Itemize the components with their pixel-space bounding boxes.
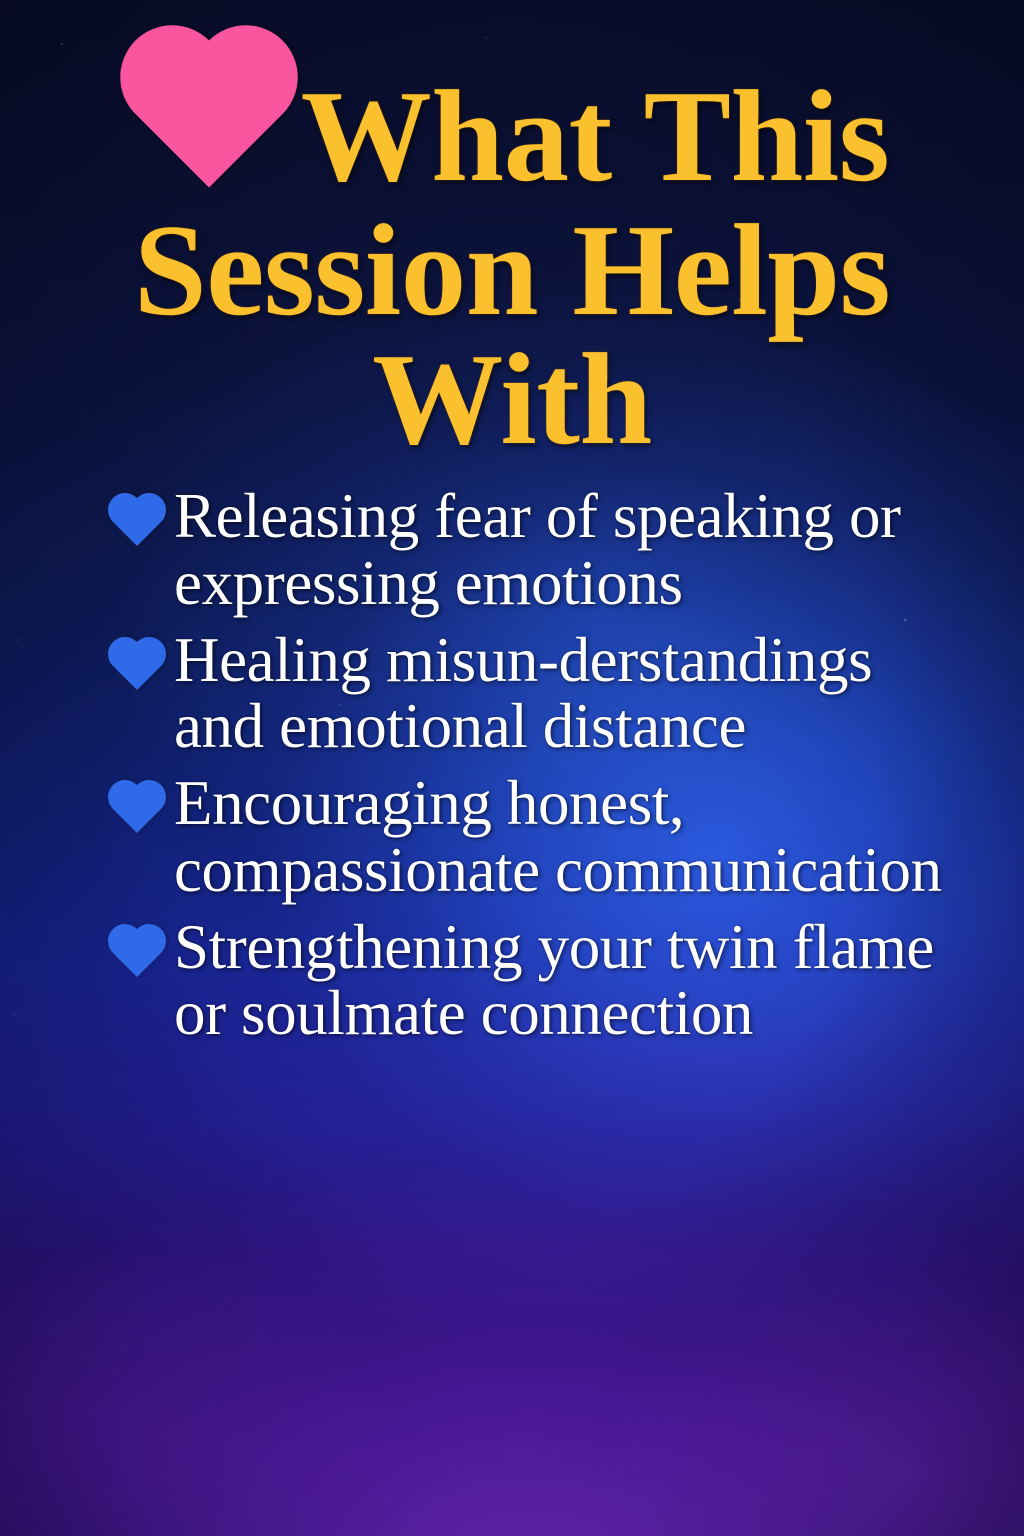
bullet-marker xyxy=(112,770,174,837)
bullet-marker xyxy=(112,914,174,981)
blue-heart-icon xyxy=(113,498,161,546)
pink-heart-icon xyxy=(135,40,282,187)
poster-content: What This Session Helps With Releasing f… xyxy=(0,0,1024,1536)
blue-heart-icon xyxy=(113,642,161,690)
list-item: Releasing fear of speaking or expressing… xyxy=(112,483,970,617)
pink-heart-icon-wrap xyxy=(135,62,285,206)
list-item-label: Strengthening your twin flame or soulmat… xyxy=(174,914,970,1048)
benefits-list: Releasing fear of speaking or expressing… xyxy=(0,483,1024,1047)
blue-heart-icon xyxy=(113,929,161,977)
blue-heart-icon xyxy=(113,785,161,833)
poster-canvas: What This Session Helps With Releasing f… xyxy=(0,0,1024,1536)
list-item-label: Healing misun-derstandings and emotional… xyxy=(174,627,970,761)
list-item: Healing misun-derstandings and emotional… xyxy=(112,627,970,761)
list-item: Strengthening your twin flame or soulmat… xyxy=(112,914,970,1048)
bullet-marker xyxy=(112,627,174,694)
page-title: What This Session Helps With xyxy=(86,62,938,465)
title-block: What This Session Helps With xyxy=(0,0,1024,465)
list-item-label: Releasing fear of speaking or expressing… xyxy=(174,483,970,617)
list-item-label: Encouraging honest, compassionate commun… xyxy=(174,770,970,904)
list-item: Encouraging honest, compassionate commun… xyxy=(112,770,970,904)
bullet-marker xyxy=(112,483,174,550)
